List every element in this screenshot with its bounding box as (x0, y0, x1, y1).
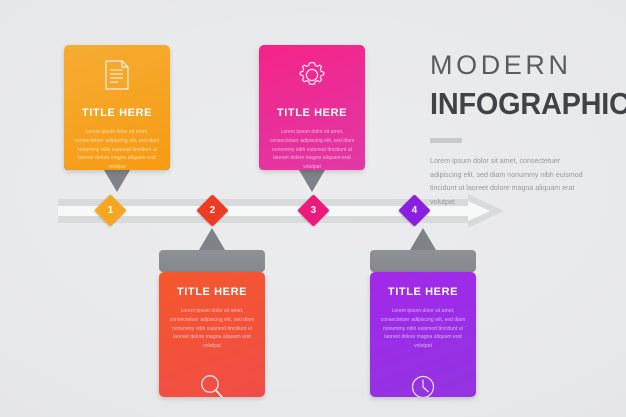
timeline-step-2-number: 2 (210, 206, 216, 216)
card-4-title: TITLE HERE (388, 287, 458, 298)
card-3-title: TITLE HERE (177, 287, 247, 298)
card-1-title: TITLE HERE (82, 108, 152, 119)
timeline-step-1-number: 1 (108, 206, 114, 216)
gear-icon (297, 59, 327, 91)
card-2-panel[interactable]: TITLE HERE Lorem ipsum dolor sit amet, c… (259, 45, 365, 170)
search-icon (197, 371, 227, 397)
clock-icon (408, 371, 438, 397)
headline-infographic: INFOGRAPHIC (430, 88, 626, 119)
infographic-canvas: TITLE HERE Lorem ipsum dolor sit amet, c… (0, 0, 626, 417)
card-1-body: Lorem ipsum dolor sit amet, consectetuer… (72, 128, 162, 170)
card-1-pointer (104, 170, 130, 192)
card-3-tab (159, 250, 265, 272)
card-2-title: TITLE HERE (277, 108, 347, 119)
card-4-body: Lorem ipsum dolor sit amet, consectetuer… (378, 307, 468, 351)
card-2-body: Lorem ipsum dolor sit amet, consectetuer… (267, 128, 357, 170)
card-3-panel[interactable]: TITLE HERE Lorem ipsum dolor sit amet, c… (159, 272, 265, 397)
timeline-step-3-number: 3 (311, 206, 317, 216)
card-3-pointer (199, 228, 225, 250)
headline-divider (430, 138, 462, 143)
card-3-body: Lorem ipsum dolor sit amet, consectetuer… (167, 307, 257, 351)
headline-lead-text: Lorem ipsum dolor sit amet, consectetuer… (430, 155, 585, 209)
card-1-panel[interactable]: TITLE HERE Lorem ipsum dolor sit amet, c… (64, 45, 170, 170)
timeline-step-4-number: 4 (412, 206, 418, 216)
headline-modern: MODERN (430, 52, 626, 79)
card-4-tab (370, 250, 476, 272)
document-icon (102, 59, 132, 91)
card-4-pointer (410, 228, 436, 250)
headline-block: MODERN INFOGRAPHIC Lorem ipsum dolor sit… (430, 52, 626, 209)
card-2-pointer (299, 170, 325, 192)
card-4-panel[interactable]: TITLE HERE Lorem ipsum dolor sit amet, c… (370, 272, 476, 397)
